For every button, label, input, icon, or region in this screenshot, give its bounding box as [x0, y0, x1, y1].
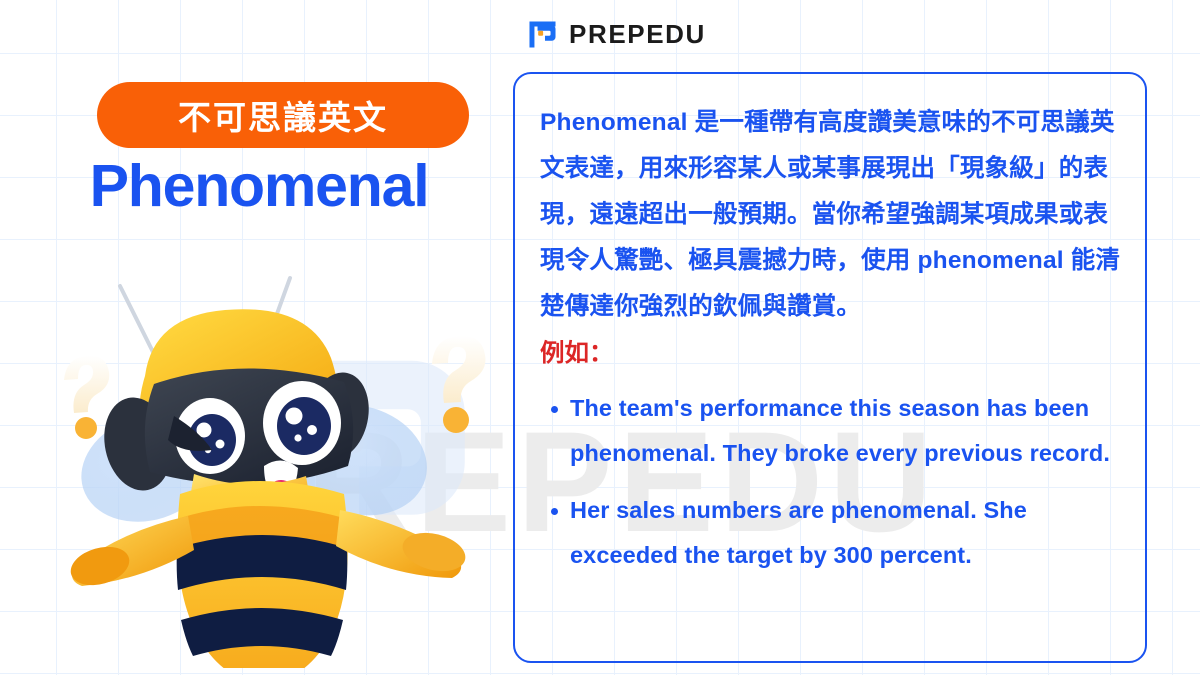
page-title: Phenomenal	[44, 152, 474, 220]
question-mark-icon	[432, 336, 485, 433]
slide-canvas: PREPEDU PREPEDU 不可思議英文 Phenomenal	[0, 0, 1200, 675]
definition-panel: Phenomenal 是一種帶有高度讚美意味的不可思議英文表達，用來形容某人或某…	[513, 72, 1147, 663]
category-badge-label: 不可思議英文	[178, 91, 388, 139]
examples-list: The team's performance this season has b…	[540, 386, 1121, 578]
prepedu-bracket-logo-icon	[527, 19, 558, 50]
definition-text: Phenomenal 是一種帶有高度讚美意味的不可思議英文表達，用來形容某人或某…	[540, 100, 1121, 330]
examples-label: 例如：	[540, 332, 1121, 376]
brand-logo: PREPEDU	[527, 16, 706, 52]
list-item: The team's performance this season has b…	[570, 386, 1121, 476]
brand-name: PREPEDU	[569, 19, 706, 50]
category-badge: 不可思議英文	[97, 82, 469, 148]
list-item: Her sales numbers are phenomenal. She ex…	[570, 488, 1121, 578]
question-mark-icon	[64, 356, 109, 439]
bee-mascot-icon	[28, 248, 498, 668]
